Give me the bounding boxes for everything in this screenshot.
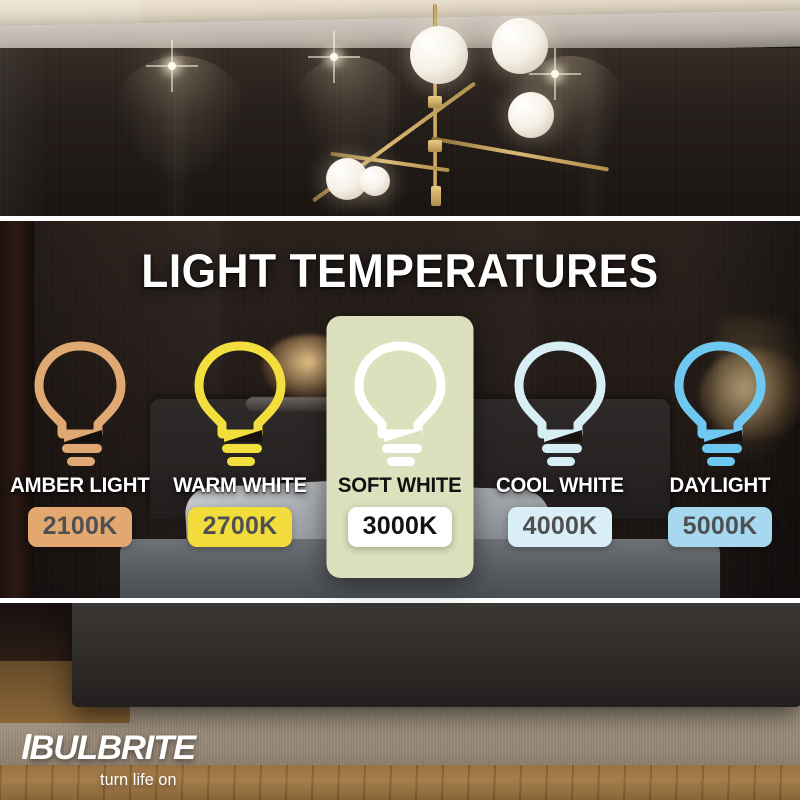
temperature-row: AMBER LIGHT 2100K WARM WHITE 2700K (0, 316, 800, 584)
temperature-label: AMBER LIGHT (10, 474, 149, 498)
chandelier-globe (492, 18, 548, 74)
chandelier-hub (428, 96, 442, 108)
brand-wordmark: BULBRITE (26, 731, 195, 765)
chandelier-finial (431, 186, 441, 206)
divider-rule-bottom (0, 598, 800, 603)
kelvin-badge: 4000K (508, 507, 613, 547)
brand-name-rest: ULBRITE (53, 731, 195, 765)
kelvin-badge: 2700K (188, 507, 293, 547)
temperature-label: DAYLIGHT (670, 474, 771, 498)
light-bulb-icon (350, 338, 450, 468)
temperature-label: SOFT WHITE (338, 474, 462, 498)
ceiling-scene (0, 0, 800, 218)
page-title: LIGHT TEMPERATURES (24, 244, 776, 298)
light-bulb-icon (30, 338, 130, 468)
brand-logo[interactable]: BULBRITE turn life on (28, 731, 193, 790)
brand-logo-mark: B (26, 731, 53, 765)
chandelier-arm (431, 136, 609, 171)
chandelier-globe (508, 92, 554, 138)
chandelier (0, 0, 800, 218)
light-bulb-icon (190, 338, 290, 468)
kelvin-badge: 5000K (668, 507, 773, 547)
temperature-card-cool-white[interactable]: COOL WHITE 4000K (480, 316, 640, 584)
chandelier-globe (360, 166, 390, 196)
bed-base (72, 603, 800, 707)
temperature-label: COOL WHITE (496, 474, 624, 498)
kelvin-badge: 2100K (28, 507, 133, 547)
divider-rule-top (0, 216, 800, 221)
light-bulb-icon (670, 338, 770, 468)
kelvin-badge: 3000K (348, 507, 453, 547)
temperature-card-amber-light[interactable]: AMBER LIGHT 2100K (0, 316, 160, 584)
chandelier-hub (428, 140, 442, 152)
poster: LIGHT TEMPERATURES AMBER LIGHT 2100K (0, 0, 800, 800)
chandelier-globe (410, 26, 468, 84)
temperature-card-daylight[interactable]: DAYLIGHT 5000K (640, 316, 800, 584)
temperature-label: WARM WHITE (173, 474, 307, 498)
temperature-card-warm-white[interactable]: WARM WHITE 2700K (160, 316, 320, 584)
temperature-card-soft-white[interactable]: SOFT WHITE 3000K (320, 316, 480, 584)
brand-tagline: turn life on (100, 770, 189, 790)
light-bulb-icon (510, 338, 610, 468)
